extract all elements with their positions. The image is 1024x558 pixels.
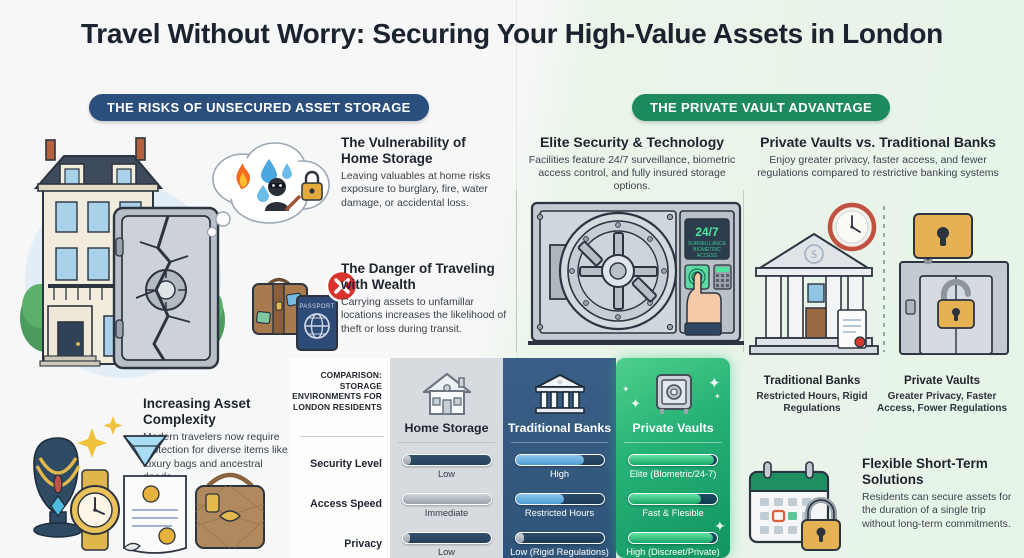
cell-bank-privacy: Low (Rigid Regulations) [503, 532, 616, 557]
header-separator [511, 442, 608, 443]
cell-vault-access: Fast & Flesible [616, 493, 730, 518]
header-separator [398, 442, 495, 443]
row-label-access-speed: Access Speed [290, 498, 382, 510]
text-block-vaults-vs-banks: Private Vaults vs. Traditional Banks Enj… [752, 134, 1004, 180]
compare-detail: Restricted Hours, Rigid Regulations [742, 391, 882, 416]
flexible-term-illustration [736, 460, 856, 554]
column-header-home-storage: Home Storage [390, 421, 503, 435]
cell-value: Low [390, 469, 503, 479]
cell-value: Low (Rigid Regulations) [503, 547, 616, 557]
house-icon [421, 370, 473, 416]
table-title: COMPARISON: STORAGE ENVIRONMENTS FOR LON… [290, 370, 382, 412]
block-body: Facilities feature 24/7 surveillance, bi… [528, 154, 736, 194]
level-bar [402, 532, 492, 544]
section-badge-advantage: THE PRIVATE VAULT ADVANTAGE [632, 94, 890, 121]
svg-text:$: $ [811, 247, 817, 261]
bank-building-icon: $ [750, 205, 878, 354]
cell-vault-security: Elite (Blometric/24-7) [616, 454, 730, 479]
cell-bank-security: High [503, 454, 616, 479]
level-bar [515, 493, 605, 505]
row-label-security-level: Security Level [290, 458, 382, 470]
vault-screen-line4: ACCESS [697, 253, 718, 259]
text-block-vulnerability: The Vulnerability of Home Storage Leavin… [341, 135, 507, 210]
block-body: Leaving valuables at home risks exposure… [341, 170, 507, 210]
cell-value: Low [390, 547, 503, 557]
vault-door-illustration: 24/7 SURVEILLANCE BIOMETRIC ACCESS [528, 197, 744, 357]
text-block-elite-security: Elite Security & Technology Facilities f… [528, 134, 736, 194]
compare-heading: Traditional Banks [742, 374, 882, 388]
wristwatch-icon [71, 470, 119, 550]
level-bar [628, 493, 718, 505]
column-header-private-vaults: Private Vaults [616, 421, 730, 435]
cell-value: Elite (Blometric/24-7) [616, 469, 730, 479]
cell-value: High (Discreet/Private) [616, 547, 730, 557]
padlock-large-icon [914, 214, 972, 260]
compare-label-private-vaults: Private Vaults Greater Privacy, Faster A… [872, 374, 1012, 416]
cell-value: High [503, 469, 616, 479]
block-heading: Private Vaults vs. Traditional Banks [752, 134, 1004, 151]
svg-text:PASSPORT: PASSPORT [299, 304, 334, 310]
level-bar [628, 454, 718, 466]
bank-vs-vault-illustration: $ [748, 196, 1018, 360]
handbag-icon [196, 475, 264, 548]
level-bar [402, 454, 492, 466]
risk-thought-bubble-illustration [203, 137, 333, 257]
cell-vault-privacy: High (Discreet/Private) [616, 532, 730, 557]
cell-home-privacy: Low [390, 532, 503, 557]
vault-control-panel: 24/7 SURVEILLANCE BIOMETRIC ACCESS [680, 211, 734, 335]
block-heading: Elite Security & Technology [528, 134, 736, 151]
luxury-assets-illustration [20, 408, 295, 558]
level-bar [402, 493, 492, 505]
block-heading: The Danger of Traveling with Wealth [341, 261, 507, 293]
level-bar [515, 454, 605, 466]
level-bar [628, 532, 718, 544]
text-block-danger: The Danger of Traveling with Wealth Carr… [341, 261, 507, 336]
cell-value: Restricted Hours [503, 508, 616, 518]
right-panel-divider [516, 190, 517, 352]
block-heading: Flexible Short-Term Solutions [862, 456, 1020, 488]
bank-icon [533, 370, 587, 416]
table-column-traditional-banks[interactable]: Traditional Banks High Restricted Hours [503, 358, 616, 558]
page-title: Travel Without Worry: Securing Your High… [0, 18, 1024, 50]
sparkle-icon: ✦ [714, 392, 721, 401]
row-label-privacy: Privacy [290, 538, 382, 550]
level-bar [515, 532, 605, 544]
section-badge-risks: THE RISKS OF UNSECURED ASSET STORAGE [89, 94, 429, 121]
table-label-column: COMPARISON: STORAGE ENVIRONMENTS FOR LON… [290, 358, 390, 558]
safe-icon [647, 370, 699, 416]
infographic-canvas: Travel Without Worry: Securing Your High… [0, 0, 1024, 558]
sparkle-icon: ✦ [622, 384, 630, 395]
block-body: Enjoy greater privacy, faster access, an… [752, 154, 1004, 181]
compare-label-traditional-banks: Traditional Banks Restricted Hours, Rigi… [742, 374, 882, 416]
sparkle-icon: ✦ [630, 396, 641, 412]
block-heading: The Vulnerability of Home Storage [341, 135, 507, 167]
block-body: Residents can secure assets for the dura… [862, 491, 1020, 531]
cell-home-security: Low [390, 454, 503, 479]
sparkle-icon [77, 416, 123, 458]
cell-bank-access: Restricted Hours [503, 493, 616, 518]
cell-value: Fast & Flesible [616, 508, 730, 518]
sparkle-icon: ✦ [708, 374, 721, 392]
header-separator [624, 442, 722, 443]
deed-document-icon [124, 476, 186, 553]
cell-value: Immediate [390, 508, 503, 518]
diamond-icon [124, 436, 166, 466]
private-vault-icon [900, 214, 1008, 354]
passport-icon: PASSPORT [297, 296, 337, 350]
block-body: Carrying assets to unfamillar locations … [341, 296, 507, 336]
vault-screen-line1: 24/7 [695, 225, 719, 239]
comparison-table: COMPARISON: STORAGE ENVIRONMENTS FOR LON… [290, 358, 730, 558]
table-column-home-storage[interactable]: Home Storage Low Immediate [390, 358, 503, 558]
compare-detail: Greater Privacy, Faster Access, Fower Re… [872, 391, 1012, 416]
table-column-private-vaults[interactable]: ✦ ✦ ✦ ✦ ✦ Private Vaults Elite (Blometri… [616, 358, 730, 558]
column-header-traditional-banks: Traditional Banks [503, 421, 616, 435]
compare-heading: Private Vaults [872, 374, 1012, 388]
text-block-flexible-solutions: Flexible Short-Term Solutions Residents … [862, 456, 1020, 531]
label-separator [300, 436, 384, 437]
cell-home-access: Immediate [390, 493, 503, 518]
